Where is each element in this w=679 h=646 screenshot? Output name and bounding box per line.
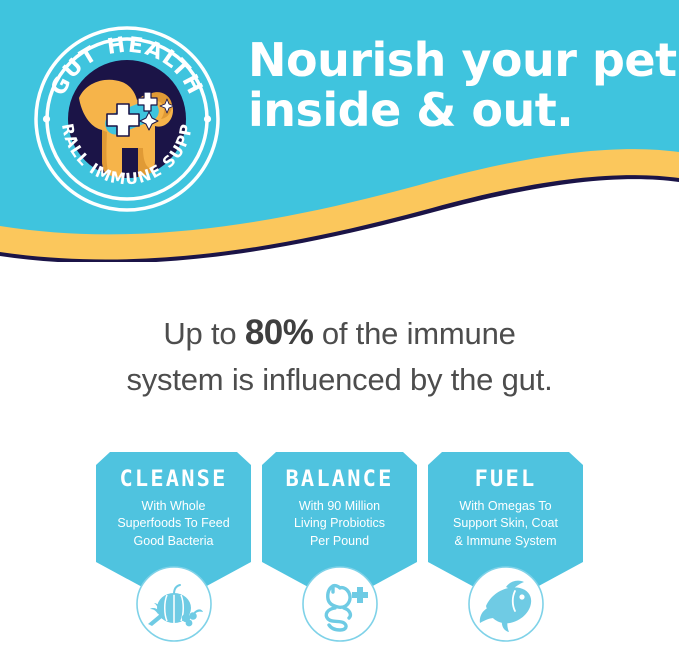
stat-line-2: system is influenced by the gut. (0, 358, 679, 402)
badge-dot-right (204, 115, 211, 122)
card-description: With Whole Superfoods To Feed Good Bacte… (96, 498, 251, 550)
card-desc-line-3: Good Bacteria (102, 533, 245, 550)
benefit-card-balance[interactable]: BALANCE With 90 Million Living Probiotic… (262, 452, 417, 646)
card-description: With 90 Million Living Probiotics Per Po… (262, 498, 417, 550)
fish-icon (468, 566, 544, 642)
card-desc-line-1: With Whole (102, 498, 245, 515)
card-desc-line-3: & Immune System (434, 533, 577, 550)
card-title: BALANCE (262, 469, 417, 491)
stat-statement: Up to 80% of the immune system is influe… (0, 308, 679, 402)
stat-line-1: Up to 80% of the immune (0, 308, 679, 358)
card-body: CLEANSE With Whole Superfoods To Feed Go… (96, 452, 251, 550)
card-desc-line-2: Support Skin, Coat (434, 515, 577, 532)
stat-prefix: Up to (163, 316, 245, 351)
card-desc-line-1: With Omegas To (434, 498, 577, 515)
card-desc-line-3: Per Pound (268, 533, 411, 550)
pumpkin-vegetables-icon (136, 566, 212, 642)
card-body: BALANCE With 90 Million Living Probiotic… (262, 452, 417, 550)
card-desc-line-1: With 90 Million (268, 498, 411, 515)
stat-suffix: of the immune (313, 316, 515, 351)
card-title: FUEL (428, 469, 583, 491)
stomach-intestine-icon (302, 566, 378, 642)
hero-headline-line-2: inside & out. (248, 86, 668, 136)
benefit-cards: CLEANSE With Whole Superfoods To Feed Go… (0, 452, 679, 646)
benefit-card-cleanse[interactable]: CLEANSE With Whole Superfoods To Feed Go… (96, 452, 251, 646)
hero-headline-line-1: Nourish your pet, (248, 36, 668, 86)
benefit-card-fuel[interactable]: FUEL With Omegas To Support Skin, Coat &… (428, 452, 583, 646)
gut-health-badge: GUT HEALTH OVERALL IMMUNE SUPPORT (34, 26, 220, 212)
card-title: CLEANSE (96, 469, 251, 491)
stat-percentage: 80% (245, 313, 314, 352)
card-body: FUEL With Omegas To Support Skin, Coat &… (428, 452, 583, 550)
hero-headline: Nourish your pet, inside & out. (248, 36, 668, 135)
card-description: With Omegas To Support Skin, Coat & Immu… (428, 498, 583, 550)
card-desc-line-2: Superfoods To Feed (102, 515, 245, 532)
hero-banner: GUT HEALTH OVERALL IMMUNE SUPPORT Nouris… (0, 0, 679, 262)
card-desc-line-2: Living Probiotics (268, 515, 411, 532)
badge-dot-left (43, 115, 50, 122)
